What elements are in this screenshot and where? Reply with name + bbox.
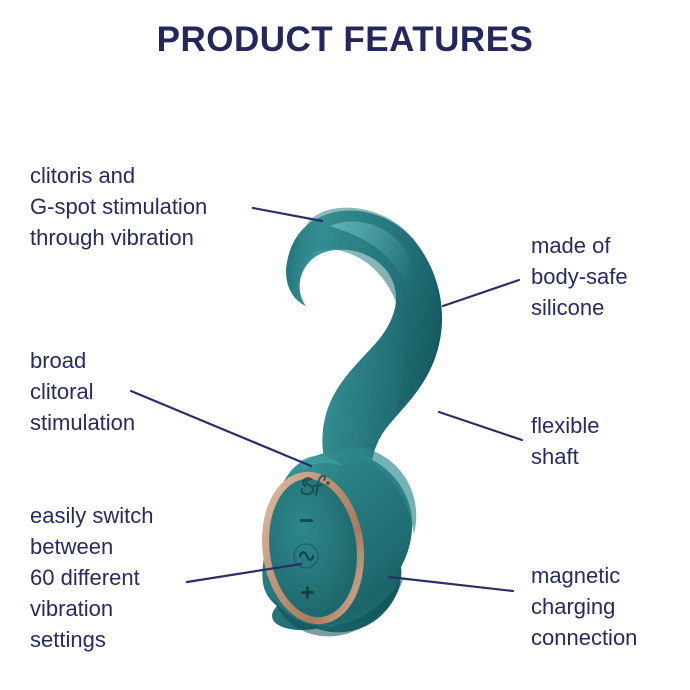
- callout-body-safe-silicone: made of body-safe silicone: [531, 230, 628, 323]
- leader-line-easily: [187, 564, 301, 582]
- leader-line-magnetic: [389, 577, 513, 591]
- callout-flexible-shaft: flexible shaft: [531, 410, 599, 472]
- callout-clitoris-gspot-stimulation: clitoris and G-spot stimulation through …: [30, 160, 207, 253]
- leader-line-broad: [131, 391, 311, 466]
- callout-magnetic-charging-connection: magnetic charging connection: [531, 560, 637, 653]
- product-features-infographic: PRODUCT FEATURES: [0, 0, 690, 690]
- leader-line-clitoris: [253, 208, 322, 221]
- callout-broad-clitoral-stimulation: broad clitoral stimulation: [30, 345, 135, 438]
- leader-line-silicone: [443, 280, 519, 306]
- callout-easily-switch-settings: easily switch between 60 different vibra…: [30, 500, 153, 655]
- leader-line-flexible: [439, 412, 522, 440]
